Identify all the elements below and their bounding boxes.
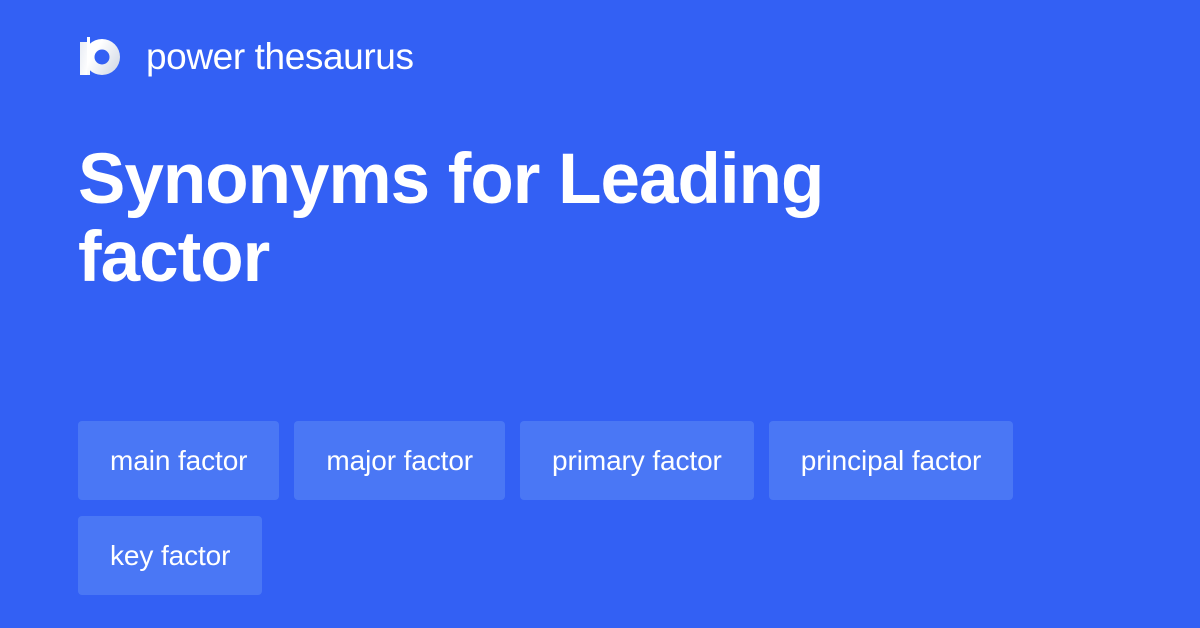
synonym-chip-list: main factor major factor primary factor … [78, 421, 1128, 595]
synonym-chip[interactable]: main factor [78, 421, 279, 500]
power-thesaurus-b-logo-icon [78, 33, 124, 79]
page-title: Synonyms for Leading factor [78, 141, 1088, 297]
share-card: power thesaurus Synonyms for Leading fac… [0, 0, 1200, 628]
page-title-line-2: factor [78, 219, 1088, 297]
synonym-chip[interactable]: principal factor [769, 421, 1013, 500]
brand-name: power thesaurus [146, 38, 414, 75]
synonym-chip[interactable]: primary factor [520, 421, 754, 500]
synonym-chip[interactable]: key factor [78, 516, 262, 595]
brand-header[interactable]: power thesaurus [78, 28, 414, 84]
synonym-chip[interactable]: major factor [294, 421, 505, 500]
page-title-line-1: Synonyms for Leading [78, 141, 1088, 219]
